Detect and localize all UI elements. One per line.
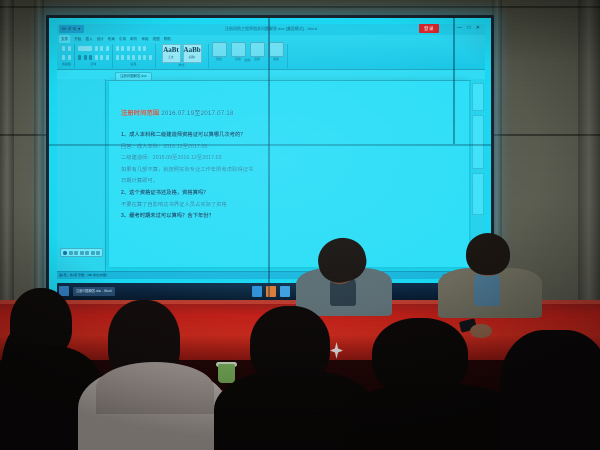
cut-icon[interactable] (68, 46, 71, 51)
select-icon[interactable] (250, 42, 265, 57)
style-name: 标题1 (184, 56, 201, 60)
align-left-icon[interactable] (116, 55, 119, 60)
pane-card[interactable] (472, 83, 484, 111)
wall-seam (0, 6, 600, 8)
audience-member (500, 330, 600, 450)
bold-icon[interactable] (78, 55, 81, 60)
group-label-font: 字体 (78, 62, 109, 66)
heading-date-range: 2016.07.19至2017.07.18 (161, 110, 233, 117)
presenter-right-head (466, 233, 510, 275)
style-name: 正文 (163, 56, 180, 60)
increase-indent-icon[interactable] (138, 46, 141, 51)
bullet-list-icon[interactable] (116, 46, 119, 51)
window-titlebar: W ↺ ↻ ▾ 注册消防工程师相关问题解答.doc [兼容模式] - Word … (57, 24, 485, 35)
borders-icon[interactable] (149, 55, 152, 60)
tab-mailings[interactable]: 邮件 (130, 35, 137, 43)
doc-line: 日期计算即可。 (121, 177, 461, 186)
replace-icon[interactable] (231, 42, 246, 57)
edit-icon[interactable] (269, 42, 284, 57)
ribbon-group-editing[interactable]: 查找 替换 选择 (209, 44, 288, 68)
pointer-icon[interactable] (85, 251, 89, 255)
floating-mini-toolbar[interactable] (60, 248, 103, 257)
ribbon-group-styles[interactable]: AaBt 正文 AaBb 标题1 样式 (156, 44, 209, 68)
tab-help[interactable]: 帮助 (164, 35, 171, 43)
line-spacing-icon[interactable] (138, 55, 141, 60)
multilevel-list-icon[interactable] (127, 46, 130, 51)
underline-icon[interactable] (89, 55, 92, 60)
find-icon[interactable] (212, 42, 227, 57)
document-heading: 注册时间范围 2016.07.19至2017.07.18 (121, 109, 461, 119)
format-painter-icon[interactable] (68, 55, 71, 60)
ribbon-group-paragraph[interactable]: 段落 (113, 44, 156, 68)
pane-card[interactable] (472, 115, 484, 169)
justify-icon[interactable] (132, 55, 135, 60)
media-icon[interactable] (280, 286, 290, 297)
align-right-icon[interactable] (127, 55, 130, 60)
group-label-paragraph: 段落 (116, 62, 152, 66)
ribbon-group-clipboard[interactable]: 剪贴板 (59, 44, 75, 68)
green-cup (218, 364, 235, 383)
style-sample: AaBt (163, 45, 180, 56)
video-wall-seam (49, 144, 491, 146)
status-left: 第1页，共2页 字数：386 中文(中国) (59, 272, 107, 279)
tab-references[interactable]: 引用 (119, 35, 126, 43)
shapes-icon[interactable] (91, 251, 95, 255)
highlighter-icon[interactable] (74, 251, 78, 255)
tab-file[interactable]: 文件 (59, 35, 70, 43)
tab-layout[interactable]: 布局 (108, 35, 115, 43)
presenter-right-shirt (474, 272, 500, 306)
doc-line: 3、缓考时期未过可以算吗？含下年份？ (121, 212, 461, 221)
eraser-icon[interactable] (80, 251, 84, 255)
style-normal[interactable]: AaBt 正文 (162, 44, 181, 63)
document-title: 注册消防工程师相关问题解答.doc [兼容模式] - Word (225, 25, 317, 33)
ribbon-tab-strip[interactable]: 文件 开始 插入 设计 布局 引用 邮件 审阅 视图 帮助 (59, 35, 171, 43)
shrink-font-icon[interactable] (106, 46, 109, 51)
video-wall-seam (453, 18, 455, 144)
doc-line: 1、成人本科和二级建造师资格证可以算哪几次考的？ (121, 131, 461, 140)
style-heading1[interactable]: AaBb 标题1 (183, 44, 202, 63)
strikethrough-icon[interactable] (95, 55, 98, 60)
window-controls[interactable]: — □ ✕ (457, 24, 482, 33)
ribbon: 文件 开始 插入 设计 布局 引用 邮件 审阅 视图 帮助 (57, 35, 485, 70)
ribbon-group-font[interactable]: 字体 (75, 44, 113, 68)
copy-icon[interactable] (62, 55, 65, 60)
doc-line: 2、这个资格证书还及格，资格算吗？ (121, 189, 461, 198)
style-sample: AaBb (184, 45, 201, 56)
video-wall-seam (268, 18, 270, 305)
audience-member-hood (96, 362, 214, 414)
numbered-list-icon[interactable] (121, 46, 124, 51)
shading-icon[interactable] (143, 55, 146, 60)
grow-font-icon[interactable] (100, 46, 103, 51)
font-color-icon[interactable] (106, 55, 109, 60)
heading-prefix: 注册时间范围 (121, 110, 159, 117)
record-icon[interactable] (63, 251, 67, 255)
word-application-window: W ↺ ↻ ▾ 注册消防工程师相关问题解答.doc [兼容模式] - Word … (57, 24, 485, 279)
group-label-clipboard: 剪贴板 (62, 62, 71, 66)
document-text: 注册时间范围 2016.07.19至2017.07.18 1、成人本科和二级建造… (121, 109, 461, 224)
align-center-icon[interactable] (121, 55, 124, 60)
close-icon[interactable] (96, 251, 100, 255)
login-button[interactable]: 登录 (419, 24, 439, 33)
conference-room-photo: W ↺ ↻ ▾ 注册消防工程师相关问题解答.doc [兼容模式] - Word … (0, 0, 600, 450)
tab-design[interactable]: 设计 (97, 35, 104, 43)
tab-review[interactable]: 审阅 (141, 35, 148, 43)
pen-icon[interactable] (69, 251, 73, 255)
navigation-pane[interactable] (57, 79, 106, 279)
style-gallery[interactable]: AaBt 正文 AaBb 标题1 (159, 44, 205, 63)
tab-view[interactable]: 视图 (153, 35, 160, 43)
tab-insert[interactable]: 插入 (85, 35, 92, 43)
group-label-editing: 编辑 (212, 58, 284, 62)
work-area: 注册时间范围 2016.07.19至2017.07.18 1、成人本科和二级建造… (57, 79, 485, 279)
ribbon-groups: 剪贴板 (59, 44, 483, 68)
quick-access-toolbar[interactable]: W ↺ ↻ ▾ (59, 25, 84, 33)
screen-surface: W ↺ ↻ ▾ 注册消防工程师相关问题解答.doc [兼容模式] - Word … (49, 18, 491, 305)
windows-taskbar: 注册问题解答.doc - Word (57, 283, 485, 301)
doc-line: 不要在算了自影响这书界证人员占实际了资格 (121, 201, 461, 210)
paste-icon[interactable] (62, 46, 65, 51)
tab-home[interactable]: 开始 (74, 35, 81, 43)
taskbar-pinned-icons[interactable] (252, 286, 290, 297)
status-bar: 第1页，共2页 字数：386 中文(中国) ▤ ▦ ▣ — ＋ 100% (57, 271, 485, 279)
decrease-indent-icon[interactable] (132, 46, 135, 51)
italic-icon[interactable] (84, 55, 87, 60)
sort-icon[interactable] (143, 46, 146, 51)
font-family-select[interactable] (78, 46, 92, 51)
taskbar-app-button[interactable]: 注册问题解答.doc - Word (73, 287, 115, 296)
presenter-right-hand (470, 324, 492, 338)
doc-line: 如果有几部不算，就按照实际专业工作年限考虑取得证书 (121, 166, 461, 175)
doc-line: 二级建造师：2015.09至2016.12至2017.03 (121, 154, 461, 163)
highlight-icon[interactable] (100, 55, 103, 60)
audience-member-body (344, 384, 524, 450)
browser-icon[interactable] (252, 286, 262, 297)
group-label-styles: 样式 (159, 63, 205, 67)
document-page[interactable]: 注册时间范围 2016.07.19至2017.07.18 1、成人本科和二级建造… (109, 81, 469, 267)
video-wall-display: W ↺ ↻ ▾ 注册消防工程师相关问题解答.doc [兼容模式] - Word … (46, 15, 494, 308)
pane-card[interactable] (472, 173, 484, 215)
font-size-select[interactable] (95, 46, 98, 51)
